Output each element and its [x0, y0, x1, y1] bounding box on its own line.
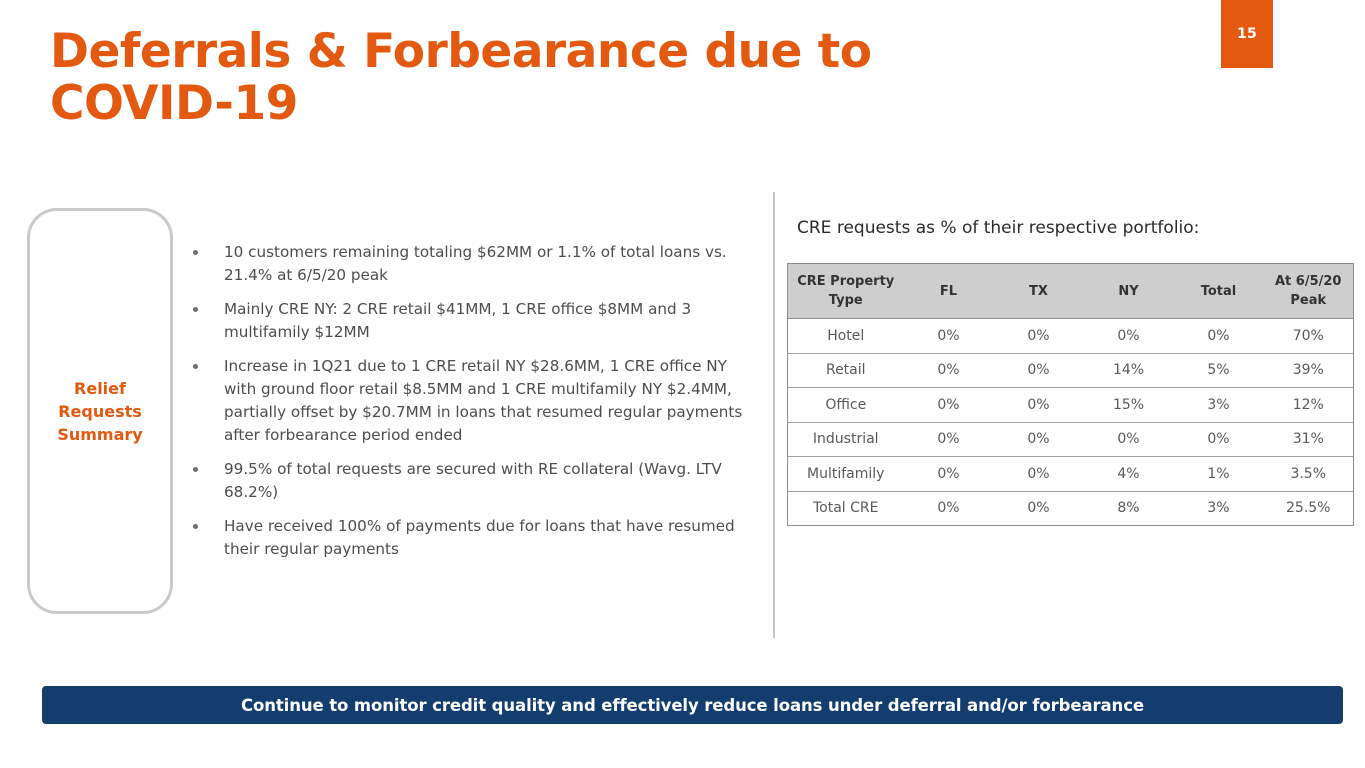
cell-at-peak: 12%	[1264, 388, 1354, 423]
list-item-text: Have received 100% of payments due for l…	[224, 517, 735, 558]
cell-tx: 0%	[994, 422, 1084, 457]
cell-tx: 0%	[994, 491, 1084, 526]
cell-property-type: Industrial	[788, 422, 904, 457]
cell-at-peak: 25.5%	[1264, 491, 1354, 526]
cell-property-type: Office	[788, 388, 904, 423]
cell-tx: 0%	[994, 319, 1084, 354]
cell-fl: 0%	[904, 388, 994, 423]
cre-requests-table: CRE Property Type FL TX NY Total At 6/5/…	[787, 263, 1354, 526]
cell-fl: 0%	[904, 353, 994, 388]
cell-property-type: Total CRE	[788, 491, 904, 526]
cell-tx: 0%	[994, 388, 1084, 423]
table-row: Total CRE 0% 0% 8% 3% 25.5%	[788, 491, 1354, 526]
cell-fl: 0%	[904, 457, 994, 492]
cell-ny: 4%	[1084, 457, 1174, 492]
cell-property-type: Multifamily	[788, 457, 904, 492]
cell-at-peak: 70%	[1264, 319, 1354, 354]
bullet-dot-icon	[193, 524, 198, 529]
table-header-row: CRE Property Type FL TX NY Total At 6/5/…	[788, 264, 1354, 319]
cell-total: 1%	[1174, 457, 1264, 492]
cell-ny: 0%	[1084, 319, 1174, 354]
cell-property-type: Hotel	[788, 319, 904, 354]
page-number-badge: 15	[1221, 0, 1273, 68]
bullet-dot-icon	[193, 307, 198, 312]
list-item: 99.5% of total requests are secured with…	[190, 458, 746, 504]
page-title: Deferrals & Forbearance due to COVID-19	[50, 26, 1050, 130]
cell-property-type: Retail	[788, 353, 904, 388]
cell-at-peak: 3.5%	[1264, 457, 1354, 492]
list-item: Mainly CRE NY: 2 CRE retail $41MM, 1 CRE…	[190, 298, 746, 344]
list-item-text: 99.5% of total requests are secured with…	[224, 460, 722, 501]
vertical-divider	[773, 192, 775, 638]
list-item-text: Increase in 1Q21 due to 1 CRE retail NY …	[224, 357, 742, 444]
column-header-tx: TX	[994, 264, 1084, 319]
list-item-text: Mainly CRE NY: 2 CRE retail $41MM, 1 CRE…	[224, 300, 691, 341]
cre-table-container: CRE Property Type FL TX NY Total At 6/5/…	[787, 263, 1353, 526]
relief-requests-summary-box: Relief Requests Summary	[27, 208, 173, 614]
cell-total: 3%	[1174, 491, 1264, 526]
column-header-at-peak: At 6/5/20 Peak	[1264, 264, 1354, 319]
cell-fl: 0%	[904, 319, 994, 354]
cell-ny: 8%	[1084, 491, 1174, 526]
cell-fl: 0%	[904, 491, 994, 526]
list-item: 10 customers remaining totaling $62MM or…	[190, 241, 746, 287]
column-header-fl: FL	[904, 264, 994, 319]
table-row: Office 0% 0% 15% 3% 12%	[788, 388, 1354, 423]
cell-tx: 0%	[994, 457, 1084, 492]
relief-requests-summary-label: Relief Requests Summary	[57, 377, 142, 446]
cell-total: 0%	[1174, 422, 1264, 457]
cell-ny: 15%	[1084, 388, 1174, 423]
cell-total: 0%	[1174, 319, 1264, 354]
slide: 15 Deferrals & Forbearance due to COVID-…	[0, 0, 1365, 768]
footer-banner: Continue to monitor credit quality and e…	[42, 686, 1343, 724]
column-header-ny: NY	[1084, 264, 1174, 319]
bullet-dot-icon	[193, 467, 198, 472]
table-row: Industrial 0% 0% 0% 0% 31%	[788, 422, 1354, 457]
cell-total: 5%	[1174, 353, 1264, 388]
table-row: Multifamily 0% 0% 4% 1% 3.5%	[788, 457, 1354, 492]
table-row: Retail 0% 0% 14% 5% 39%	[788, 353, 1354, 388]
column-header-total: Total	[1174, 264, 1264, 319]
footer-banner-text: Continue to monitor credit quality and e…	[241, 696, 1144, 715]
list-item: Increase in 1Q21 due to 1 CRE retail NY …	[190, 355, 746, 447]
bullet-dot-icon	[193, 364, 198, 369]
cell-ny: 14%	[1084, 353, 1174, 388]
cell-tx: 0%	[994, 353, 1084, 388]
list-item-text: 10 customers remaining totaling $62MM or…	[224, 243, 727, 284]
column-header-property-type: CRE Property Type	[788, 264, 904, 319]
cell-total: 3%	[1174, 388, 1264, 423]
cell-at-peak: 39%	[1264, 353, 1354, 388]
table-row: Hotel 0% 0% 0% 0% 70%	[788, 319, 1354, 354]
list-item: Have received 100% of payments due for l…	[190, 515, 746, 561]
table-caption: CRE requests as % of their respective po…	[797, 217, 1199, 239]
bullet-list: 10 customers remaining totaling $62MM or…	[190, 241, 746, 561]
cell-at-peak: 31%	[1264, 422, 1354, 457]
cell-fl: 0%	[904, 422, 994, 457]
cell-ny: 0%	[1084, 422, 1174, 457]
bullet-dot-icon	[193, 250, 198, 255]
